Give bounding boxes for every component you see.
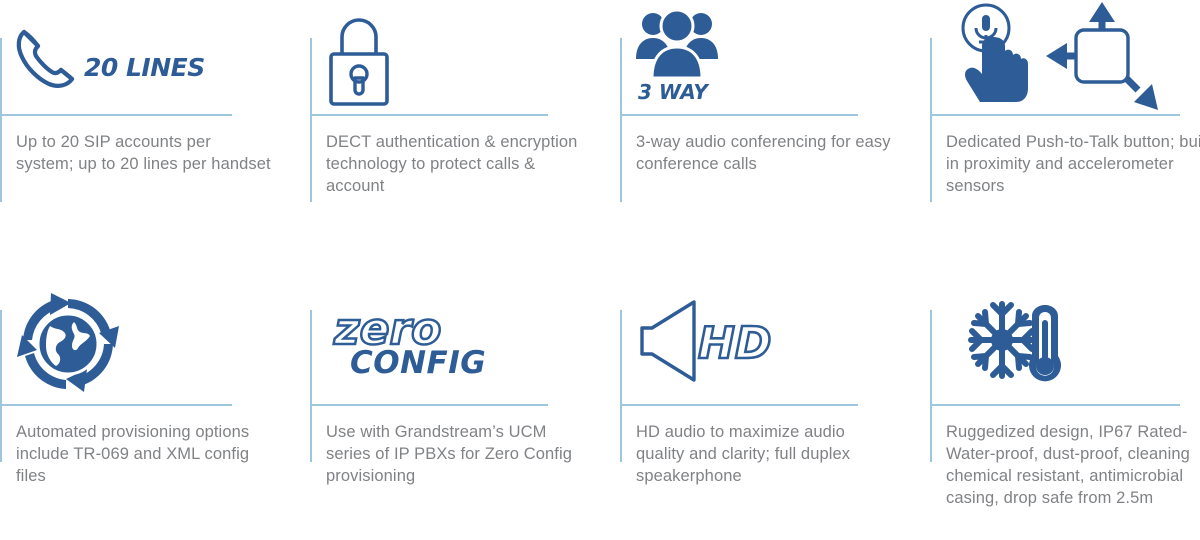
- phone-handset-icon: 20 LINES: [14, 26, 205, 92]
- badge-label: 3 WAY: [638, 80, 720, 104]
- card-horizontal-rule: [930, 114, 1180, 116]
- card-vertical-rule: [930, 310, 932, 462]
- card-horizontal-rule: [0, 404, 232, 406]
- padlock-icon: [324, 10, 394, 108]
- config-wordmark: CONFIG: [350, 348, 486, 379]
- feature-grid: 20 LINES Up to 20 SIP accounts per syste…: [0, 0, 1200, 540]
- card-horizontal-rule: [930, 404, 1180, 406]
- card-vertical-rule: [0, 310, 2, 462]
- feature-description: Automated provisioning options include T…: [16, 422, 271, 488]
- feature-description: Dedicated Push-to-Talk button; built in …: [946, 132, 1200, 198]
- card-vertical-rule: [0, 38, 2, 202]
- feature-description: HD audio to maximize audio quality and c…: [636, 422, 891, 488]
- card-vertical-rule: [620, 38, 622, 202]
- card-vertical-rule: [310, 38, 312, 202]
- card-horizontal-rule: [620, 404, 858, 406]
- feature-description: Ruggedized design, IP67 Rated-Water-proo…: [946, 422, 1200, 510]
- card-horizontal-rule: [0, 114, 232, 116]
- speaker-hd-icon: HD: [636, 298, 776, 384]
- card-vertical-rule: [620, 310, 622, 462]
- card-horizontal-rule: [620, 114, 858, 116]
- feature-description: Use with Grandstream’s UCM series of IP …: [326, 422, 581, 488]
- snowflake-thermometer-icon: [964, 294, 1068, 390]
- three-people-icon: 3 WAY: [634, 6, 720, 104]
- card-horizontal-rule: [310, 114, 548, 116]
- feature-description: 3-way audio conferencing for easy confer…: [636, 132, 891, 176]
- hd-badge-text: HD: [698, 318, 771, 369]
- card-horizontal-rule: [310, 404, 548, 406]
- badge-label: 20 LINES: [84, 53, 205, 82]
- globe-refresh-icon: [14, 290, 122, 394]
- card-vertical-rule: [310, 310, 312, 462]
- hand-press-microphone-icon: [946, 2, 1171, 112]
- zero-config-logo: zero CONFIG: [334, 308, 486, 379]
- feature-description: Up to 20 SIP accounts per system; up to …: [16, 132, 271, 176]
- card-vertical-rule: [930, 38, 932, 202]
- feature-description: DECT authentication & encryption technol…: [326, 132, 581, 198]
